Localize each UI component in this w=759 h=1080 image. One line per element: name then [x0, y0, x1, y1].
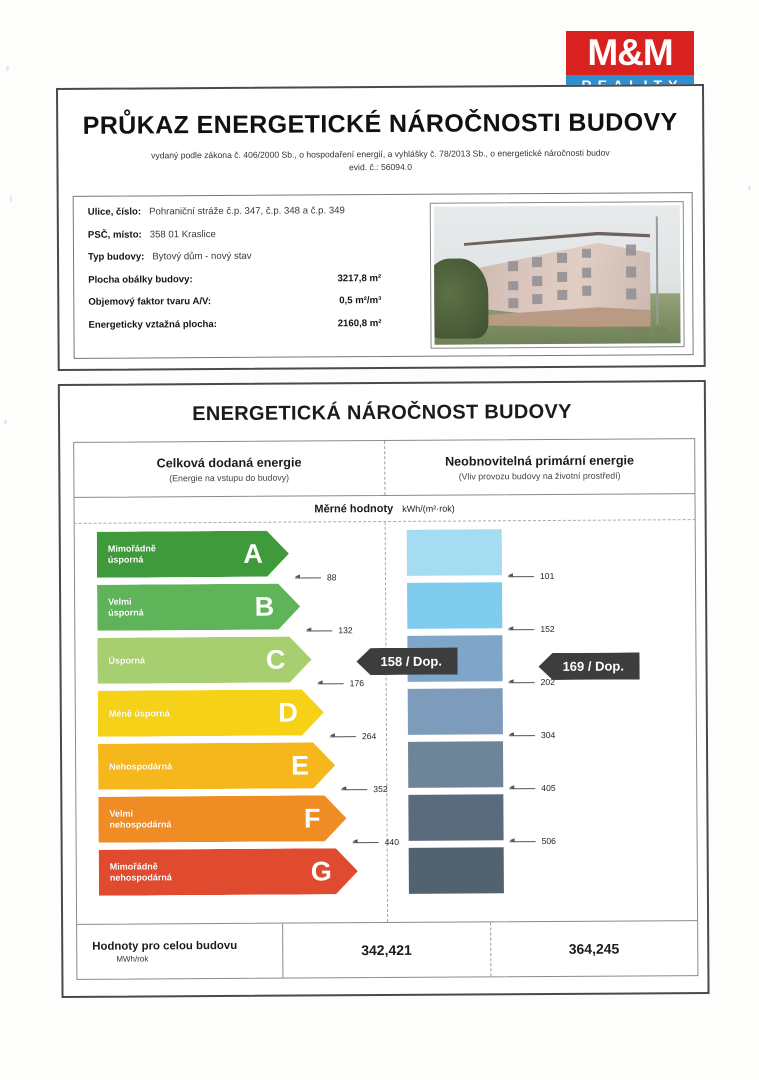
- photo-window: [532, 257, 542, 267]
- page-title: PRŮKAZ ENERGETICKÉ NÁROČNOSTI BUDOVY: [58, 108, 702, 141]
- primary-energy-band-4: [408, 688, 503, 735]
- units-label: Měrné hodnoty: [314, 502, 393, 514]
- building-photo: Kraslice 2016: [434, 205, 681, 345]
- tick-value: 176: [350, 678, 364, 688]
- photo-window: [626, 288, 636, 299]
- info-row-postcode: PSČ, místo: 358 01 Kraslice: [88, 227, 418, 240]
- totals-label: Hodnoty pro celou budovu: [92, 939, 282, 952]
- band-boundary-tick: 264: [330, 731, 376, 741]
- delivered-energy-scale: Mimořádně úspornáA88Velmi úspornáB132Úsp…: [97, 530, 369, 903]
- photo-window: [533, 276, 543, 286]
- units-row: Měrné hodnoty kWh/(m²·rok): [74, 494, 696, 524]
- energy-band-g: Mimořádně nehospodárnáG: [99, 848, 358, 896]
- tick-arrow-icon: [330, 736, 356, 737]
- photo-window: [508, 261, 518, 271]
- band-letter: B: [255, 591, 275, 622]
- tick-arrow-icon: [508, 576, 534, 577]
- band-label: Velmi nehospodárná: [109, 809, 171, 831]
- result-badge-primary-energy: 169 / Dop.: [538, 652, 640, 680]
- energy-performance-panel: ENERGETICKÁ NÁROČNOST BUDOVY Celková dod…: [58, 380, 710, 998]
- tick-arrow-icon: [510, 841, 536, 842]
- info-row-street: Ulice, číslo: Pohraniční stráže č.p. 347…: [88, 205, 418, 218]
- column-subheading: (Energie na vstupu do budovy): [169, 472, 289, 483]
- info-value: 2160,8 m²: [338, 318, 382, 329]
- band-boundary-tick: 304: [509, 730, 555, 740]
- tick-value: 264: [362, 731, 376, 741]
- primary-energy-band-2: [407, 582, 502, 629]
- tick-value: 88: [327, 572, 337, 582]
- info-value: 0,5 m²/m³: [339, 295, 381, 306]
- photo-window: [533, 294, 543, 304]
- primary-energy-band-5: [408, 741, 503, 788]
- result-badge-delivered-energy: 158 / Dop.: [356, 648, 458, 676]
- tick-value: 506: [542, 836, 556, 846]
- band-letter: A: [243, 538, 263, 569]
- scan-speck: [4, 420, 7, 424]
- info-row-shape-factor: Objemový faktor tvaru A/V: 0,5 m²/m³: [88, 295, 381, 308]
- photo-window: [582, 268, 592, 278]
- tick-value: 440: [385, 837, 399, 847]
- band-letter: G: [311, 856, 332, 887]
- band-boundary-tick: 352: [341, 784, 387, 794]
- totals-primary-value: 364,245: [490, 921, 698, 976]
- band-letter: D: [278, 697, 298, 728]
- photo-window: [626, 266, 636, 277]
- band-label: Úsporná: [108, 655, 145, 666]
- info-label: Energeticky vztažná plocha:: [88, 319, 217, 331]
- tick-arrow-icon: [509, 682, 535, 683]
- band-boundary-tick: 101: [508, 571, 554, 581]
- totals-label-cell: Hodnoty pro celou budovu MWh/rok: [77, 924, 283, 979]
- tick-arrow-icon: [509, 735, 535, 736]
- column-heading: Neobnovitelná primární energie: [445, 453, 634, 468]
- band-boundary-tick: 440: [353, 837, 399, 847]
- scale-column-headers: Celková dodaná energie (Energie na vstup…: [73, 438, 695, 498]
- tick-value: 132: [338, 625, 352, 635]
- band-label: Velmi úsporná: [108, 597, 144, 619]
- band-label: Mimořádně úsporná: [108, 544, 156, 566]
- info-row-reference-area: Energeticky vztažná plocha: 2160,8 m²: [88, 318, 381, 331]
- section-title: ENERGETICKÁ NÁROČNOST BUDOVY: [60, 400, 704, 427]
- building-info-box: Ulice, číslo: Pohraniční stráže č.p. 347…: [73, 192, 694, 359]
- energy-band-f: Velmi nehospodárnáF: [98, 795, 346, 843]
- tick-arrow-icon: [306, 630, 332, 631]
- band-boundary-tick: 88: [295, 572, 337, 582]
- header-panel: PRŮKAZ ENERGETICKÉ NÁROČNOSTI BUDOVY vyd…: [56, 84, 706, 371]
- page-subtitle: vydaný podle zákona č. 406/2000 Sb., o h…: [58, 146, 702, 177]
- column-subheading: (Vliv provozu budovy na životní prostřed…: [459, 470, 621, 481]
- info-value: Bytový dům - nový stav: [152, 251, 251, 263]
- primary-energy-band-6: [408, 794, 503, 841]
- band-boundary-tick: 405: [509, 783, 555, 793]
- info-value: Pohraniční stráže č.p. 347, č.p. 348 a č…: [149, 205, 345, 217]
- certificate-sheet: PRŮKAZ ENERGETICKÉ NÁROČNOSTI BUDOVY vyd…: [56, 84, 710, 998]
- totals-delivered-value: 342,421: [283, 922, 490, 977]
- tick-arrow-icon: [353, 842, 379, 843]
- info-label: Typ budovy:: [88, 251, 144, 262]
- logo-mark: M&M: [566, 31, 694, 75]
- photo-window: [626, 244, 636, 255]
- photo-date-stamp: Kraslice 2016: [625, 328, 668, 334]
- band-boundary-tick: 152: [508, 624, 554, 634]
- band-label: Mimořádně nehospodárná: [110, 862, 172, 884]
- energy-band-c: ÚspornáC: [97, 636, 311, 683]
- band-boundary-tick: 202: [509, 677, 555, 687]
- tick-arrow-icon: [509, 788, 535, 789]
- photo-window: [557, 272, 567, 282]
- photo-window: [582, 286, 592, 296]
- tick-value: 352: [373, 784, 387, 794]
- photo-window: [557, 253, 567, 263]
- photo-window: [508, 281, 518, 291]
- building-photo-frame: Kraslice 2016: [430, 201, 685, 349]
- units-value: kWh/(m²·rok): [402, 503, 455, 513]
- scale-divider: [385, 522, 388, 922]
- column-header-delivered-energy: Celková dodaná energie (Energie na vstup…: [74, 441, 384, 497]
- photo-window: [508, 299, 518, 309]
- info-label: Ulice, číslo:: [88, 206, 141, 217]
- energy-scales: Mimořádně úspornáA88Velmi úspornáB132Úsp…: [74, 520, 698, 924]
- scan-speck: [748, 186, 751, 190]
- tick-arrow-icon: [341, 789, 367, 790]
- band-boundary-tick: 506: [510, 836, 556, 846]
- primary-energy-scale: 101152202304405506: [407, 528, 639, 900]
- info-row-envelope-area: Plocha obálky budovy: 3217,8 m²: [88, 273, 381, 286]
- info-label: Plocha obálky budovy:: [88, 274, 193, 286]
- band-letter: F: [304, 803, 321, 834]
- info-value: 3217,8 m²: [337, 273, 381, 284]
- info-value: 358 01 Kraslice: [150, 229, 216, 240]
- energy-band-d: Méně úspornáD: [98, 689, 324, 736]
- tick-value: 304: [541, 730, 555, 740]
- column-header-primary-energy: Neobnovitelná primární energie (Vliv pro…: [384, 439, 695, 495]
- scan-speck: [10, 196, 12, 202]
- tick-arrow-icon: [295, 577, 321, 578]
- tick-value: 101: [540, 571, 554, 581]
- tick-arrow-icon: [508, 629, 534, 630]
- tick-arrow-icon: [318, 683, 344, 684]
- photo-window: [582, 248, 592, 258]
- photo-window: [557, 290, 567, 300]
- energy-band-a: Mimořádně úspornáA: [97, 531, 289, 578]
- primary-energy-band-7: [409, 847, 504, 894]
- photo-tree: [434, 259, 489, 339]
- band-boundary-tick: 176: [318, 678, 364, 688]
- band-label: Nehospodárná: [109, 761, 172, 772]
- scan-speck: [6, 66, 9, 71]
- totals-row: Hodnoty pro celou budovu MWh/rok 342,421…: [76, 920, 698, 980]
- band-label: Méně úsporná: [109, 708, 170, 719]
- info-row-type: Typ budovy: Bytový dům - nový stav: [88, 250, 418, 263]
- band-letter: C: [266, 644, 286, 675]
- band-letter: E: [291, 750, 309, 781]
- band-boundary-tick: 132: [306, 625, 352, 635]
- tick-value: 405: [541, 783, 555, 793]
- info-label: Objemový faktor tvaru A/V:: [88, 296, 211, 308]
- energy-band-e: NehospodárnáE: [98, 742, 335, 789]
- tick-value: 152: [540, 624, 554, 634]
- primary-energy-band-1: [407, 529, 502, 576]
- info-label: PSČ, místo:: [88, 229, 142, 240]
- totals-unit: MWh/rok: [116, 953, 282, 963]
- energy-band-b: Velmi úspornáB: [97, 584, 300, 631]
- building-info-list: Ulice, číslo: Pohraniční stráže č.p. 347…: [88, 205, 419, 342]
- column-heading: Celková dodaná energie: [157, 455, 302, 470]
